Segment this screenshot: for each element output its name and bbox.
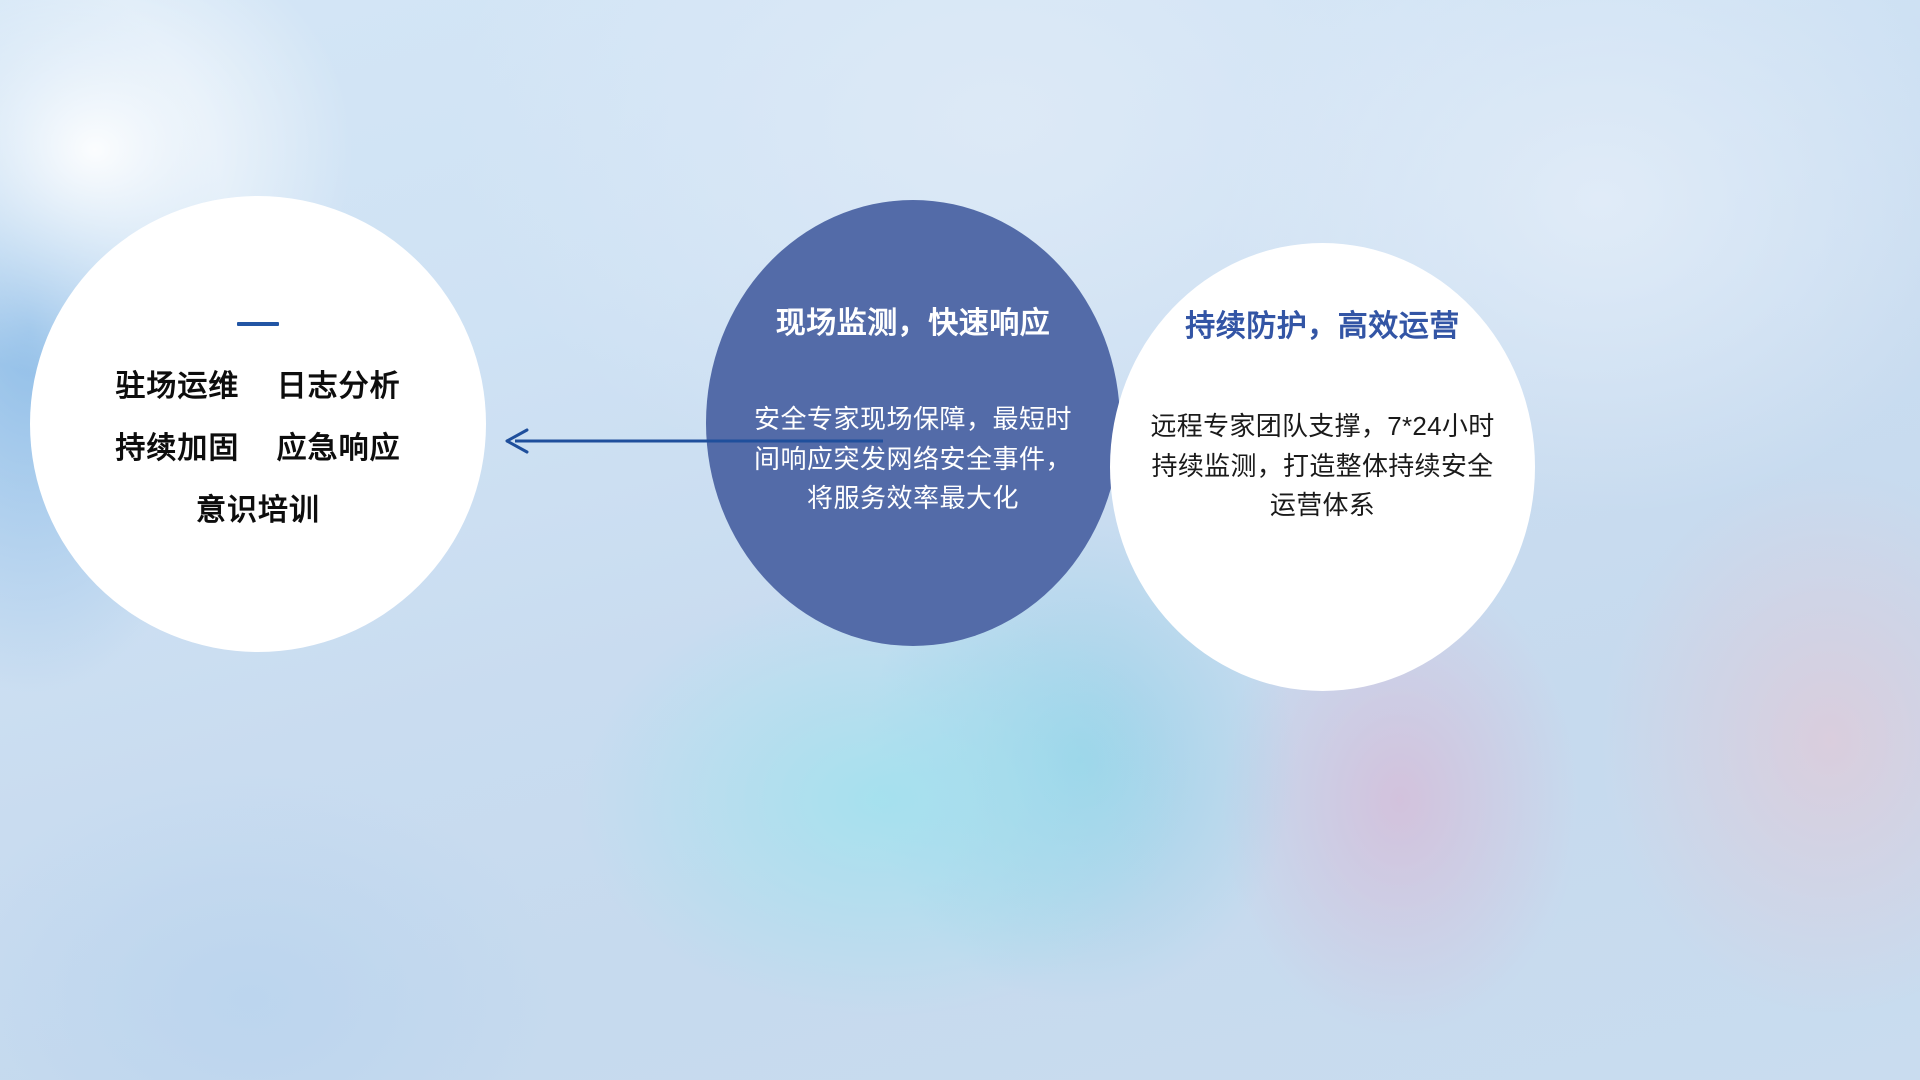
right-circle-content: 持续防护，高效运营 远程专家团队支撑，7*24小时持续监测，打造整体持续安全运营…: [1110, 243, 1535, 691]
center-circle-title: 现场监测，快速响应: [776, 298, 1051, 342]
left-divider-dash: [237, 322, 279, 326]
center-circle-content: 现场监测，快速响应 安全专家现场保障，最短时间响应突发网络安全事件，将服务效率最…: [706, 200, 1120, 646]
left-service-line-3: 意识培训: [196, 496, 320, 526]
left-service-line-2: 持续加固 应急响应: [115, 434, 400, 464]
slide-canvas: 驻场运维 日志分析 持续加固 应急响应 意识培训 现场监测，快速响应 安全专家现…: [0, 0, 1920, 1080]
right-circle-body: 远程专家团队支撑，7*24小时持续监测，打造整体持续安全运营体系: [1148, 407, 1498, 526]
left-service-line-1: 驻场运维 日志分析: [115, 372, 400, 402]
center-circle-body: 安全专家现场保障，最短时间响应突发网络安全事件，将服务效率最大化: [748, 400, 1078, 519]
right-circle-title: 持续防护，高效运营: [1185, 301, 1460, 345]
left-circle-content: 驻场运维 日志分析 持续加固 应急响应 意识培训: [30, 196, 486, 652]
